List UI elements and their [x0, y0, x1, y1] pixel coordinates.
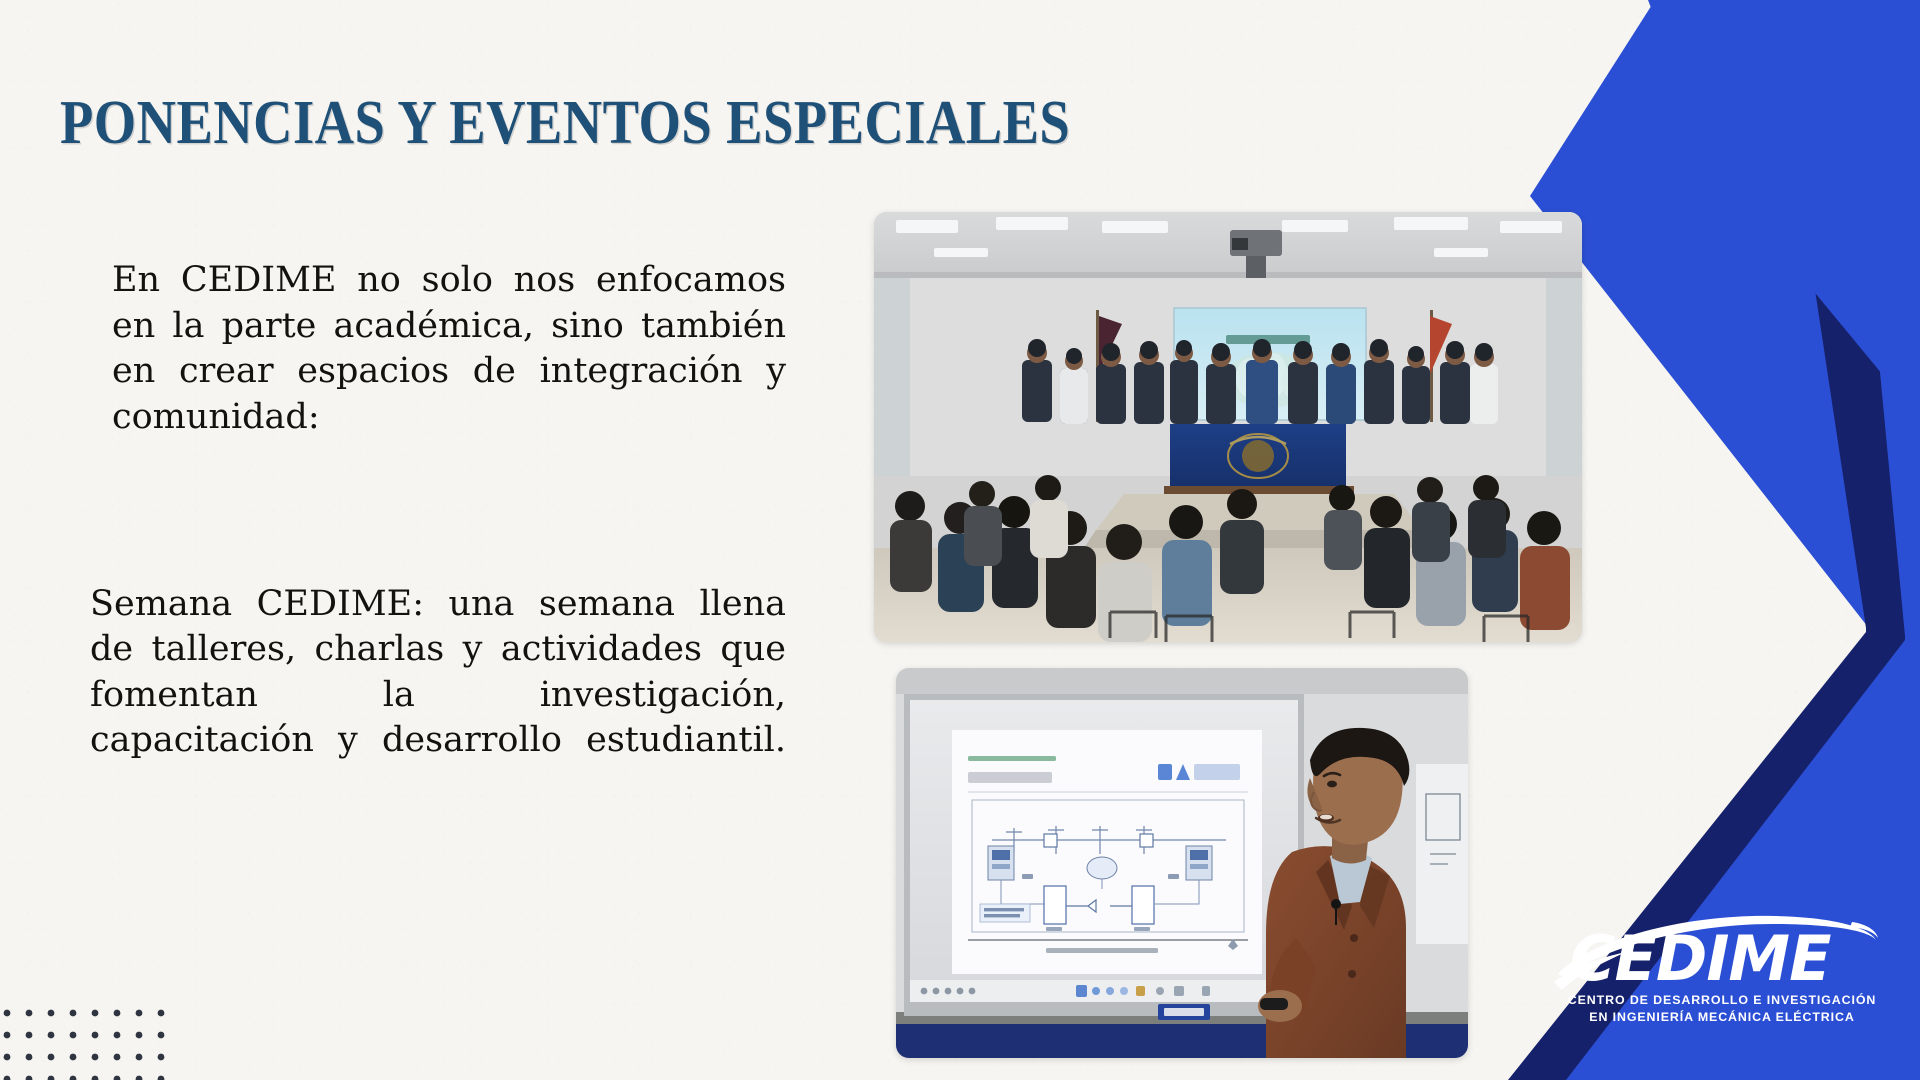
chevron-blue-top-wedge	[1648, 0, 1920, 420]
presentation-clicker	[1260, 998, 1288, 1010]
paragraph-semana-cedime: Semana CEDIME: una semana llena de talle…	[86, 582, 786, 810]
batech-brand	[1158, 764, 1240, 780]
paragraph-intro: En CEDIME no solo nos enfocamos en la pa…	[86, 258, 786, 486]
logo-tagline: CENTRO DE DESARROLLO E INVESTIGACIÓN EN …	[1568, 992, 1876, 1024]
svg-text:EN INGENIERÍA MECÁNICA ELÉCTRI: EN INGENIERÍA MECÁNICA ELÉCTRICA	[1589, 1009, 1854, 1024]
photo-auditorium-event	[874, 212, 1582, 642]
cedime-logo: CEDIME CENTRO DE DESARROLLO E INVESTIGAC…	[1552, 902, 1882, 1034]
svg-text:CENTRO DE DESARROLLO E INVESTI: CENTRO DE DESARROLLO E INVESTIGACIÓN	[1568, 992, 1876, 1007]
photo-presenter-lecture	[896, 668, 1468, 1058]
smartboard-toolbar	[910, 980, 1298, 1002]
projected-slide	[952, 730, 1262, 974]
dot-grid-decoration	[2, 1008, 178, 1080]
slide-canvas: PONENCIAS Y EVENTOS ESPECIALES En CEDIME…	[0, 0, 1920, 1080]
body-text-column: En CEDIME no solo nos enfocamos en la pa…	[86, 258, 786, 809]
page-title: PONENCIAS Y EVENTOS ESPECIALES	[60, 92, 1070, 154]
